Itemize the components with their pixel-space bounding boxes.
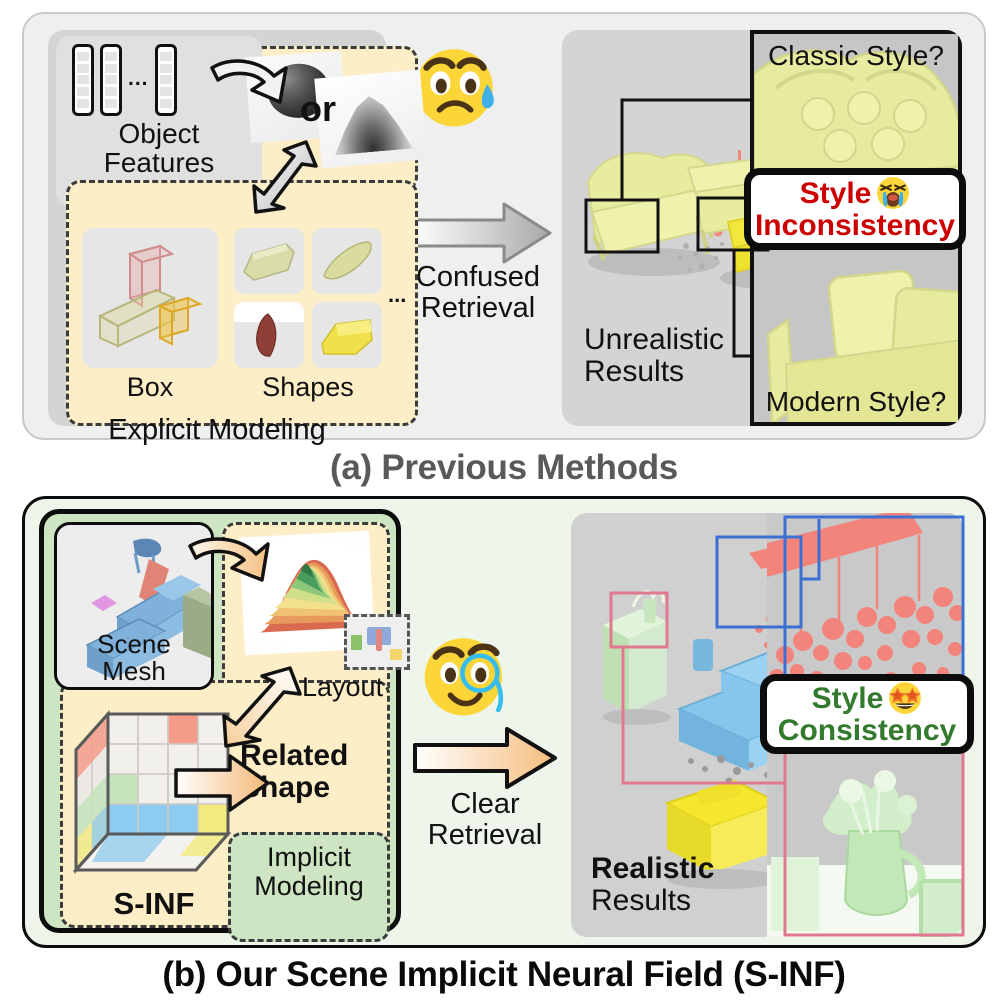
box-thumbnail [82,228,218,368]
orange-right-arrow [411,725,561,791]
monocle-smiling-face-emoji [421,629,513,721]
implicit-modeling-card: SceneMesh [39,509,401,933]
modern-style-label: Modern Style? [754,386,958,418]
ellipsis-features: ... [128,44,149,114]
badge-line1: Style [812,683,884,714]
shape-thumbnails [234,228,382,368]
style-consistency-badge: Style Consistency [760,674,974,754]
explicit-modeling-label: Explicit Modeling [48,414,386,447]
unrealistic-results-label: UnrealisticResults [584,324,794,388]
wireframe-boxes-icon [82,228,218,368]
object-features-label: ObjectFeatures [56,120,262,177]
curved-arrow-icon [208,58,298,120]
realistic-bold-label: Realistic [591,853,791,885]
implicit-modeling-label: ImplicitModeling [231,843,387,901]
shape-thumbnail [234,302,304,368]
sad-emoji-wrap [410,40,550,140]
caption-panel-a: (a) Previous Methods [0,448,1008,488]
or-label: or [300,88,336,130]
shapes-label: Shapes [224,372,392,403]
clear-retrieval-label: ClearRetrieval [395,789,575,850]
shape-thumbnail [312,228,382,294]
style-consistency-text: Style Consistency [778,681,956,746]
loudly-crying-face-emoji [876,176,910,210]
feature-vector-icon [72,44,94,116]
implicit-modeling-subcard: ImplicitModeling [228,832,390,942]
explicit-modeling-card: ... ObjectFeatures or [48,30,386,426]
ellipsis-shapes: ... [388,282,406,308]
star-struck-face-emoji [888,681,922,715]
scene-mesh-label: SceneMesh [57,631,211,685]
results-label: Results [591,884,691,917]
down-left-arrow-icon-b [212,664,304,750]
style-inconsistency-badge: Style Inconsistency [744,168,966,250]
badge-line1: Style [800,178,872,209]
happy-emoji-wrap [421,629,513,721]
realistic-results-label: Realistic Results [591,853,791,918]
confused-retrieval-label: ConfusedRetrieval [394,262,562,323]
orange-right-arrow-small [172,752,272,814]
down-arrow-icon [244,138,320,216]
figure-root: ... ObjectFeatures or [0,0,1008,1008]
classic-style-label: Classic Style? [754,40,958,72]
box-label: Box [82,372,218,403]
layout-label: Layout [302,672,383,703]
gray-right-arrow [408,200,556,266]
layout-thumbnail [344,614,410,670]
feature-vector-icon [155,44,177,116]
feature-vectors: ... [72,44,177,116]
feature-vector-icon [100,44,122,116]
room-layout-icon [347,617,407,667]
curved-arrow-icon-b [186,534,282,596]
surface-icon [330,87,413,156]
badge-line2: Inconsistency [755,210,955,241]
shape-thumbnail [234,228,304,294]
style-inconsistency-text: Style Inconsistency [755,176,955,241]
sinf-label: S-INF [74,886,234,922]
shape-thumbnail [312,302,382,368]
caption-panel-b: (b) Our Scene Implicit Neural Field (S-I… [0,955,1008,995]
badge-line2: Consistency [778,715,956,746]
